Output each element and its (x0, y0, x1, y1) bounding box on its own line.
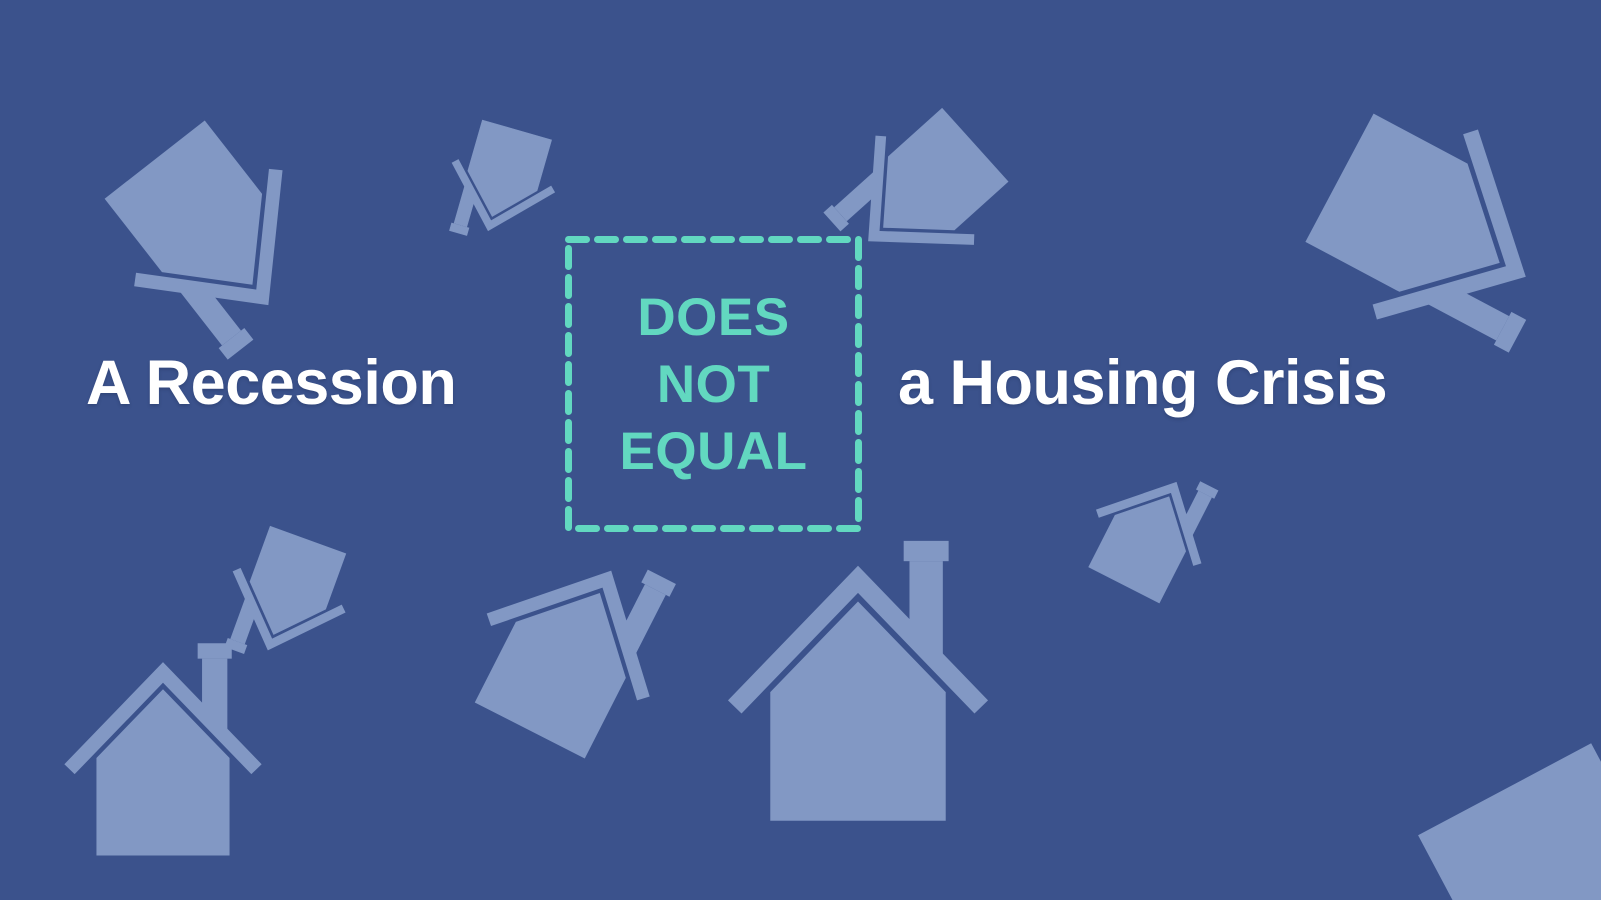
badge-line-3: EQUAL (620, 418, 808, 485)
does-not-equal-badge: DOES NOT EQUAL (565, 236, 862, 532)
headline-right: a Housing Crisis (898, 352, 1387, 415)
badge-line-2: NOT (620, 351, 808, 418)
promo-banner: A Recession DOES NOT EQUAL a Housing Cri… (0, 0, 1601, 900)
headline-left: A Recession (86, 352, 456, 415)
does-not-equal-text: DOES NOT EQUAL (620, 284, 808, 485)
banner-text-layer: A Recession DOES NOT EQUAL a Housing Cri… (0, 0, 1601, 900)
badge-line-1: DOES (620, 284, 808, 351)
